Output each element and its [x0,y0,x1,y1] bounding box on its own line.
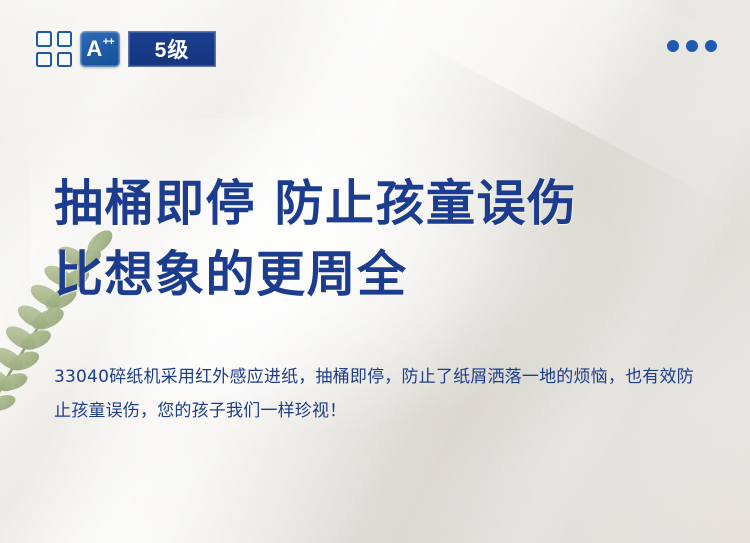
energy-grade-superscript: ++ [103,37,114,48]
three-dots-icon [667,40,717,52]
body-paragraph: 33040碎纸机采用红外感应进纸，抽桶即停，防止了纸屑洒落一地的烦恼，也有效防止… [54,360,694,428]
level-badge: 5级 [128,31,216,67]
headline: 抽桶即停 防止孩童误伤 比想象的更周全 [54,168,578,310]
grid-icon [36,31,72,67]
grid-icon-square-3 [36,52,52,68]
grid-icon-square-2 [57,31,73,47]
dot-3 [705,40,717,52]
dot-1 [667,40,679,52]
energy-grade-letter: A [86,38,101,60]
dot-2 [686,40,698,52]
badge-bar: A ++ 5级 [36,31,216,67]
product-feature-banner: A ++ 5级 [0,0,750,543]
grid-icon-square-4 [57,52,73,68]
headline-line-2: 比想象的更周全 [54,239,578,310]
top-glow-overlay [0,0,750,180]
energy-grade-badge: A ++ [80,31,120,67]
headline-line-1: 抽桶即停 防止孩童误伤 [54,175,578,232]
grid-icon-square-1 [36,31,52,47]
